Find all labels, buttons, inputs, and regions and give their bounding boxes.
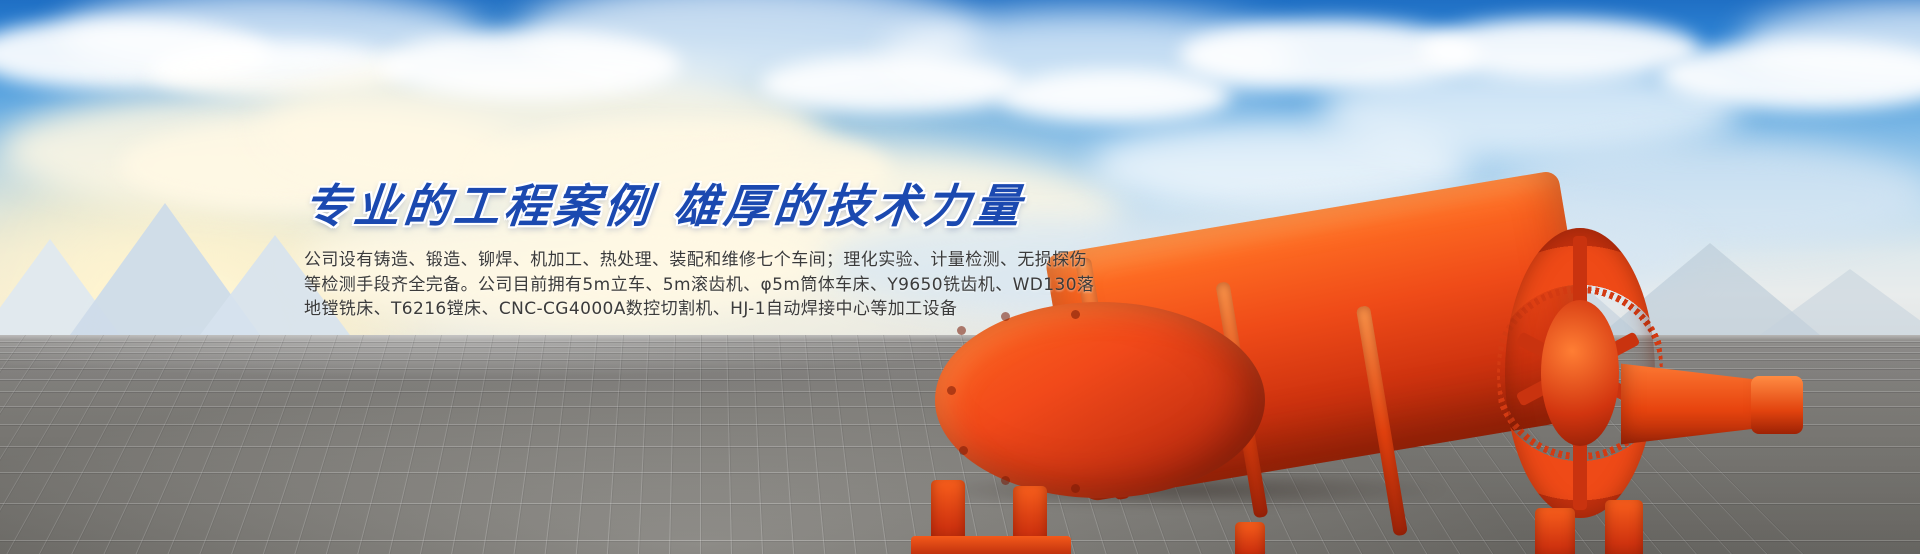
base-plate — [911, 536, 1071, 554]
hero-description: 公司设有铸造、锻造、铆焊、机加工、热处理、装配和维修七个车间；理化实验、计量检测… — [304, 248, 1324, 322]
page-title: 专业的工程案例 雄厚的技术力量 — [301, 180, 1326, 232]
support-leg — [1235, 522, 1265, 554]
rivet — [1071, 484, 1080, 493]
company-hero-banner: 专业的工程案例 雄厚的技术力量 公司设有铸造、锻造、铆焊、机加工、热处理、装配和… — [0, 0, 1920, 554]
gear-hub — [1541, 300, 1619, 446]
mill-end-cap — [935, 302, 1265, 498]
support-leg — [1535, 508, 1575, 554]
support-leg — [1605, 500, 1643, 554]
hero-copy-block: 专业的工程案例 雄厚的技术力量 公司设有铸造、锻造、铆焊、机加工、热处理、装配和… — [304, 180, 1324, 322]
cloud-puff — [1420, 18, 1700, 80]
rivet — [1001, 476, 1010, 485]
description-line-1: 公司设有铸造、锻造、铆焊、机加工、热处理、装配和维修七个车间；理化实验、计量检测… — [304, 248, 1324, 273]
description-line-3: 地镗铣床、T6216镗床、CNC-CG4000A数控切割机、HJ-1自动焊接中心… — [304, 297, 1324, 322]
cloud-puff — [1000, 70, 1230, 122]
rivet — [957, 326, 966, 335]
description-line-2: 等检测手段齐全完备。公司目前拥有5m立车、5m滚齿机、φ5m筒体车床、Y9650… — [304, 273, 1324, 298]
discharge-spout — [1751, 376, 1803, 434]
rivet — [947, 386, 956, 395]
rivet — [959, 446, 968, 455]
discharge-cone — [1621, 356, 1769, 452]
